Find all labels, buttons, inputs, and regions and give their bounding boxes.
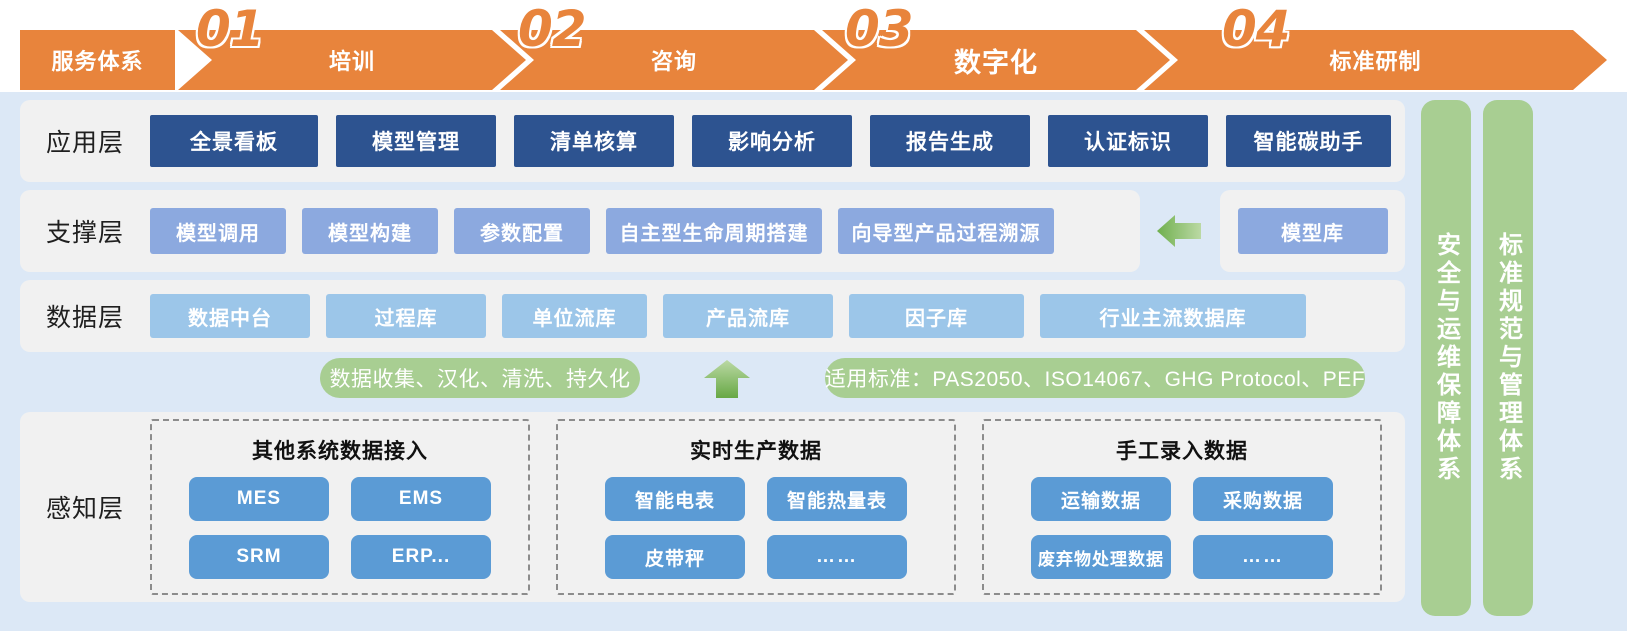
sensing-group-2-items: 运输数据 采购数据 废弃物处理数据 …… (1031, 477, 1333, 579)
banner-step-2-label: 咨询 (651, 44, 697, 76)
sensing-group-other-systems: 其他系统数据接入 MES EMS SRM ERP... (150, 419, 530, 595)
data-layer-row: 数据层 数据中台 过程库 单位流库 产品流库 因子库 行业主流数据库 (20, 280, 1405, 352)
sensing-group-manual-entry: 手工录入数据 运输数据 采购数据 废弃物处理数据 …… (982, 419, 1382, 595)
sensing-group-2-title: 手工录入数据 (1116, 435, 1248, 465)
step-number-02: 02 (518, 0, 586, 58)
support-layer-main-panel: 支撑层 模型调用 模型构建 参数配置 自主型生命周期搭建 向导型产品过程溯源 (20, 190, 1140, 272)
support-item-4[interactable]: 向导型产品过程溯源 (838, 208, 1054, 254)
architecture-diagram: 服务体系 培训 咨询 数字化 标准研制 01 02 03 04 应用层 (0, 0, 1627, 631)
data-item-1[interactable]: 过程库 (326, 294, 486, 338)
step-number-03: 03 (845, 0, 913, 58)
support-item-3[interactable]: 自主型生命周期搭建 (606, 208, 822, 254)
sensing-layer-groups: 其他系统数据接入 MES EMS SRM ERP... 实时生产数据 智能电表 … (150, 419, 1382, 595)
app-item-0[interactable]: 全景看板 (150, 115, 318, 167)
platform-body: 应用层 全景看板 模型管理 清单核算 影响分析 报告生成 认证标识 智能碳助手 … (0, 92, 1627, 631)
sensing-item-0-1[interactable]: EMS (351, 477, 491, 521)
banner-step-3-label: 数字化 (954, 41, 1038, 80)
sensing-group-0-title: 其他系统数据接入 (252, 435, 428, 465)
step-number-01: 01 (196, 0, 264, 58)
app-item-1[interactable]: 模型管理 (336, 115, 496, 167)
support-layer-items: 模型调用 模型构建 参数配置 自主型生命周期搭建 向导型产品过程溯源 (150, 208, 1054, 254)
sensing-group-0-items: MES EMS SRM ERP... (189, 477, 491, 579)
sensing-item-0-0[interactable]: MES (189, 477, 329, 521)
application-layer-label: 应用层 (20, 123, 150, 159)
application-layer-row: 应用层 全景看板 模型管理 清单核算 影响分析 报告生成 认证标识 智能碳助手 (20, 100, 1405, 182)
sensing-group-1-title: 实时生产数据 (690, 435, 822, 465)
support-item-0[interactable]: 模型调用 (150, 208, 286, 254)
banner-first-block-label: 服务体系 (51, 44, 143, 76)
sensing-item-0-2[interactable]: SRM (189, 535, 329, 579)
data-item-3[interactable]: 产品流库 (663, 294, 833, 338)
side-panel-security-ops-label: 安全与运维保障体系 (1429, 232, 1464, 484)
side-panel-standards-management-label: 标准规范与管理体系 (1491, 232, 1526, 484)
app-item-3[interactable]: 影响分析 (692, 115, 852, 167)
data-item-2[interactable]: 单位流库 (502, 294, 647, 338)
application-layer-items: 全景看板 模型管理 清单核算 影响分析 报告生成 认证标识 智能碳助手 (150, 115, 1391, 167)
step-number-04: 04 (1222, 0, 1290, 58)
sensing-item-2-2[interactable]: 废弃物处理数据 (1031, 535, 1171, 579)
data-item-4[interactable]: 因子库 (849, 294, 1024, 338)
data-layer-label: 数据层 (20, 298, 150, 334)
sensing-item-1-0[interactable]: 智能电表 (605, 477, 745, 521)
sensing-group-1-items: 智能电表 智能热量表 皮带秤 …… (605, 477, 907, 579)
sensing-layer-label: 感知层 (20, 489, 150, 525)
pill-applicable-standards: 适用标准：PAS2050、ISO14067、GHG Protocol、PEF (825, 358, 1365, 398)
pill-data-pipeline: 数据收集、汉化、清洗、持久化 (320, 358, 640, 398)
data-item-0[interactable]: 数据中台 (150, 294, 310, 338)
sensing-layer-row: 感知层 其他系统数据接入 MES EMS SRM ERP... 实时生产数据 (20, 412, 1405, 602)
banner-step-4-label: 标准研制 (1329, 44, 1421, 76)
banner-step-4[interactable]: 标准研制 (1144, 30, 1607, 90)
support-layer-label: 支撑层 (20, 213, 150, 249)
sensing-item-1-2[interactable]: 皮带秤 (605, 535, 745, 579)
banner-step-1-label: 培训 (329, 44, 375, 76)
support-layer-row: 支撑层 模型调用 模型构建 参数配置 自主型生命周期搭建 向导型产品过程溯源 (20, 190, 1405, 272)
sensing-item-2-3[interactable]: …… (1193, 535, 1333, 579)
app-item-4[interactable]: 报告生成 (870, 115, 1030, 167)
arrow-up-icon (704, 356, 750, 400)
support-item-1[interactable]: 模型构建 (302, 208, 438, 254)
arrow-left-icon (1157, 212, 1201, 250)
sensing-item-1-1[interactable]: 智能热量表 (767, 477, 907, 521)
app-item-5[interactable]: 认证标识 (1048, 115, 1208, 167)
sensing-group-realtime-production: 实时生产数据 智能电表 智能热量表 皮带秤 …… (556, 419, 956, 595)
support-item-2[interactable]: 参数配置 (454, 208, 590, 254)
app-item-2[interactable]: 清单核算 (514, 115, 674, 167)
sensing-item-2-0[interactable]: 运输数据 (1031, 477, 1171, 521)
service-system-banner: 服务体系 培训 咨询 数字化 标准研制 01 02 03 04 (0, 0, 1627, 92)
pipeline-pill-row: 数据收集、汉化、清洗、持久化 适用标准：PAS2050、ISO14067、GHG… (20, 358, 1405, 404)
support-extra-item-0[interactable]: 模型库 (1238, 208, 1388, 254)
data-item-5[interactable]: 行业主流数据库 (1040, 294, 1306, 338)
sensing-item-2-1[interactable]: 采购数据 (1193, 477, 1333, 521)
data-layer-items: 数据中台 过程库 单位流库 产品流库 因子库 行业主流数据库 (150, 294, 1306, 338)
banner-first-block[interactable]: 服务体系 (20, 30, 175, 90)
side-panel-standards-management[interactable]: 标准规范与管理体系 (1483, 100, 1533, 616)
side-panel-security-ops[interactable]: 安全与运维保障体系 (1421, 100, 1471, 616)
support-layer-extra-panel: 模型库 (1220, 190, 1405, 272)
sensing-item-0-3[interactable]: ERP... (351, 535, 491, 579)
app-item-6[interactable]: 智能碳助手 (1226, 115, 1391, 167)
sensing-item-1-3[interactable]: …… (767, 535, 907, 579)
